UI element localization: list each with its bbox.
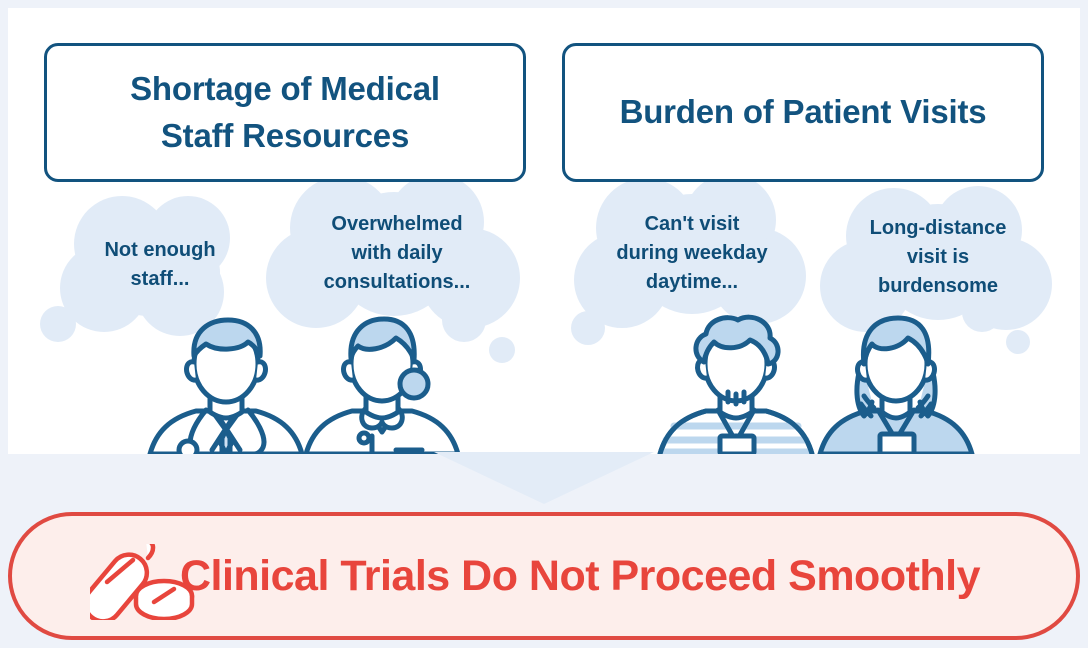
down-arrow-icon	[434, 452, 654, 504]
result-banner[interactable]: Clinical Trials Do Not Proceed Smoothly	[8, 512, 1080, 640]
bubble-trail-far-left	[38, 294, 108, 354]
problems-panel: Not enough staff... Overwhelmed with dai…	[8, 8, 1080, 454]
bubble-trail-mid-right	[564, 298, 644, 358]
problem-header-title: Burden of Patient Visits	[610, 89, 997, 135]
figure-female-medical-staff	[300, 310, 464, 454]
problem-header-medical-staff[interactable]: Shortage of Medical Staff Resources	[44, 43, 526, 182]
figure-male-patient	[654, 310, 818, 454]
figure-female-patient	[814, 310, 978, 454]
problem-header-patient-visits[interactable]: Burden of Patient Visits	[562, 43, 1044, 182]
figure-male-doctor	[144, 310, 308, 454]
infographic-canvas: Not enough staff... Overwhelmed with dai…	[0, 0, 1088, 648]
pills-icon	[90, 544, 206, 620]
problem-header-title: Shortage of Medical Staff Resources	[120, 66, 450, 158]
